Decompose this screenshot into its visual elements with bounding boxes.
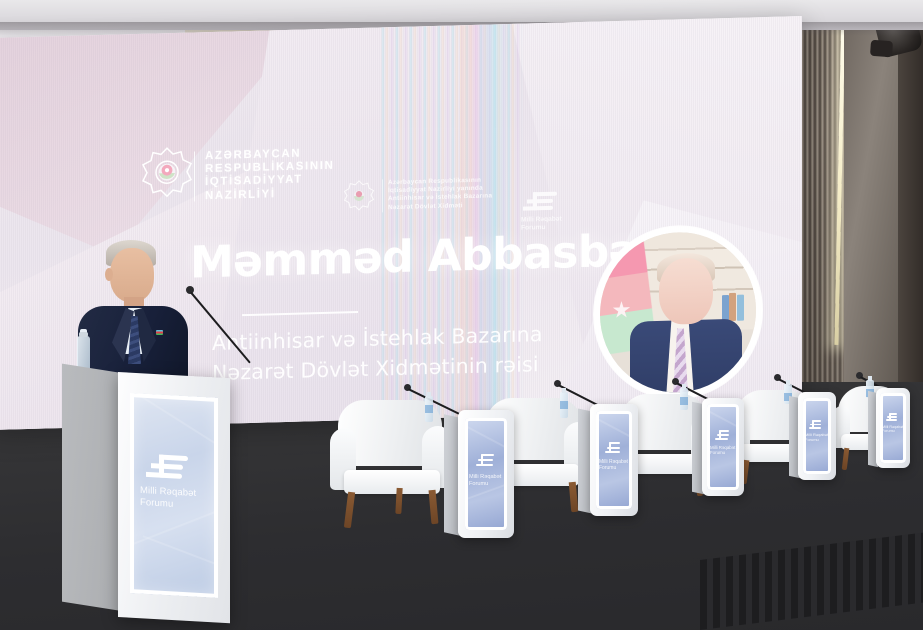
podium-three-bar-logo-icon — [146, 454, 188, 484]
service-name-block: Azərbaycan Respublikasının İqtisadiyyat … — [388, 176, 492, 212]
panel-lectern: Milli Rəqabət Forumu — [458, 410, 514, 538]
azerbaijan-flag-pin-icon — [156, 330, 163, 335]
ministry-name-block: AZƏRBAYCAN RESPUBLİKASININ İQTİSADİYYAT … — [205, 147, 334, 203]
speaker-head — [110, 248, 154, 302]
lectern-label-line-2: Forumu — [599, 465, 628, 471]
panel-lectern: Milli Rəqabət Forumu — [798, 392, 836, 480]
guest-chair — [330, 400, 452, 535]
lectern-label-line-2: Forumu — [469, 481, 501, 488]
lectern-label-line-2: Forumu — [710, 450, 735, 455]
speaker-title-block: Antiinhisar və İstehlak Bazarına Nəzarət… — [212, 319, 543, 388]
ministry-divider — [194, 151, 195, 201]
water-bottle-cap — [79, 332, 88, 337]
three-bar-logo-icon — [523, 192, 557, 215]
far-right-wall — [898, 0, 923, 400]
photo-scene: AZƏRBAYCAN RESPUBLİKASININ İQTİSADİYYAT … — [0, 0, 923, 630]
panel-lectern: Milli Rəqabət Forumu — [590, 404, 638, 516]
right-pillar — [844, 0, 902, 394]
lectern-label-line-1: Milli Rəqabət — [469, 474, 501, 481]
lectern-label-line-2: Forumu — [805, 438, 828, 443]
speaker-ear — [105, 268, 113, 281]
service-divider — [382, 179, 383, 212]
lectern-label-line-2: Forumu — [882, 429, 903, 433]
forum-label-line-1: Milli Rəqabət — [521, 216, 562, 225]
water-bottle — [560, 392, 568, 418]
speaker-portrait-photo — [600, 230, 756, 394]
panel-lectern: Milli Rəqabət Forumu — [876, 388, 910, 468]
water-bottle — [425, 396, 433, 422]
water-bottle — [680, 388, 688, 410]
podium-screen-label: Milli Rəqabət Forumu — [140, 485, 216, 512]
azerbaijan-ministry-emblem-icon — [140, 145, 194, 200]
state-service-emblem-icon — [342, 179, 376, 214]
panel-lectern: Milli Rəqabət Forumu — [702, 398, 744, 496]
